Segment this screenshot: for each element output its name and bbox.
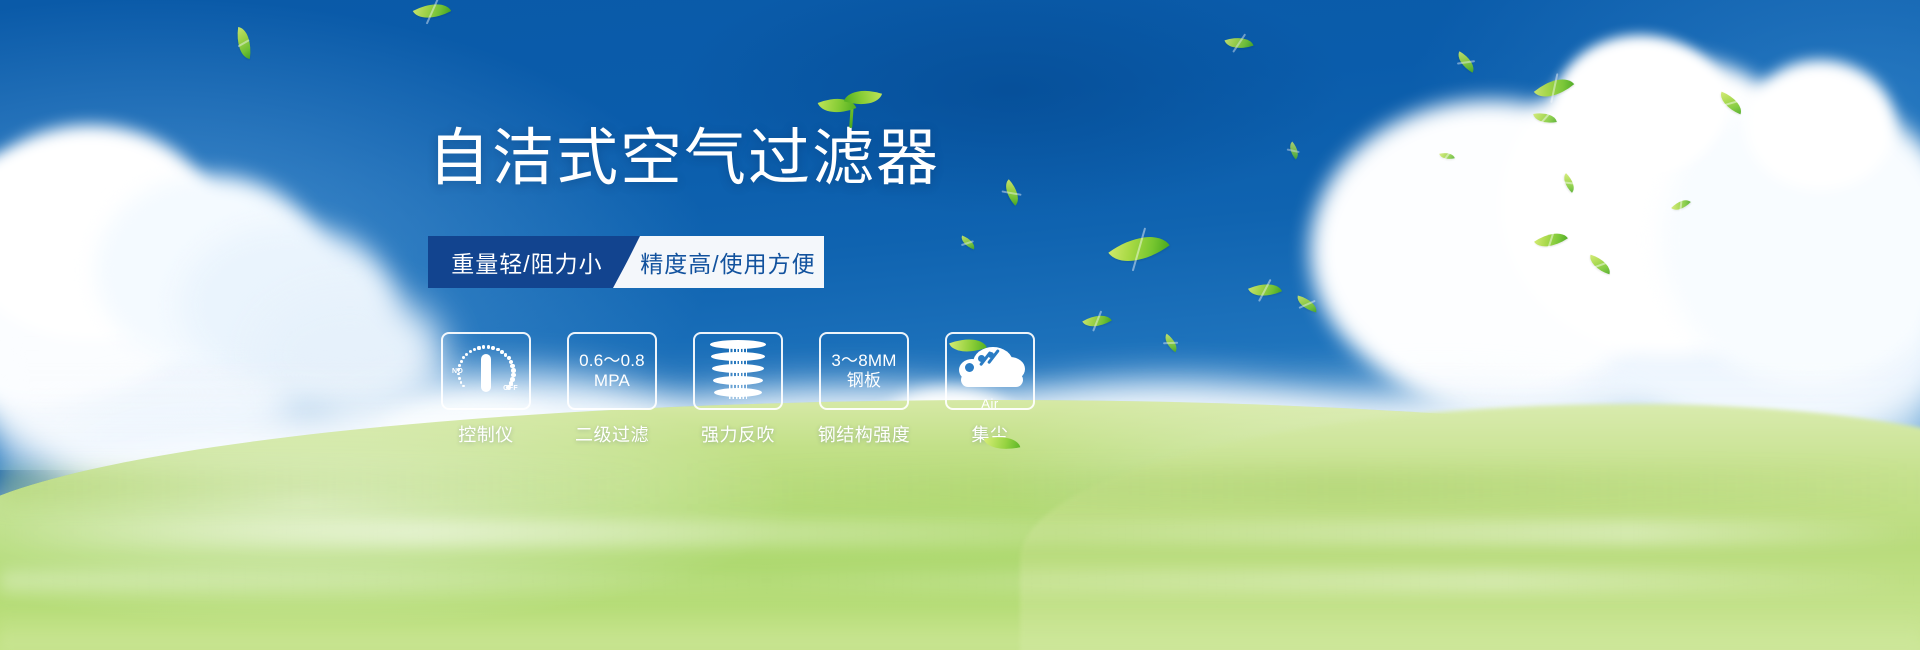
cartridge-ring (714, 388, 762, 397)
gauge-tick (460, 381, 462, 383)
feature-item-dust-collection[interactable]: Air 集尘 (942, 332, 1038, 447)
subtitle-tabs: 重量轻/阻力小 精度高/使用方便 (428, 236, 824, 288)
hero-banner: 自洁式空气过滤器 重量轻/阻力小 精度高/使用方便 NO OFF 控制仪 (0, 0, 1920, 650)
tab-label-2: 精度高/使用方便 (640, 245, 815, 279)
steel-value-line2: 钢板 (847, 371, 881, 391)
gauge-tick (469, 350, 472, 353)
feature-box-air: Air (945, 332, 1035, 410)
page-title: 自洁式空气过滤器 (428, 128, 988, 190)
gauge-tick (465, 353, 468, 356)
gauge-tick (506, 385, 511, 390)
cloud-right-top-a (1555, 35, 1725, 175)
filter-cartridge-icon (710, 340, 766, 402)
feature-box-pressure: 0.6～0.8 MPA (567, 332, 657, 410)
cloud-right-top-b (1745, 60, 1895, 190)
pressure-value-line1: 0.6～0.8 (579, 351, 645, 371)
gauge-tick (496, 348, 500, 352)
feature-box-controller: NO OFF (441, 332, 531, 410)
feature-list: NO OFF 控制仪 0.6～0.8 MPA 二级过滤 强力反吹 (438, 332, 1038, 447)
air-cloud-icon: Air (953, 343, 1027, 399)
feature-label-controller: 控制仪 (458, 421, 514, 447)
cartridge-ring (710, 340, 766, 349)
gauge-tick (473, 348, 476, 351)
gauge-tick (462, 356, 465, 359)
gauge-tick (458, 377, 460, 379)
steel-value-line1: 3～8MM (831, 351, 896, 371)
gauge-tick (482, 345, 485, 348)
tab-label-1: 重量轻/阻力小 (451, 245, 602, 279)
cartridge-ring (711, 352, 765, 361)
feature-box-steel: 3～8MM 钢板 (819, 332, 909, 410)
cloud-hole-1 (965, 363, 974, 372)
tab-precision-easyuse[interactable]: 精度高/使用方便 (614, 236, 824, 288)
cartridge-ring (713, 376, 763, 385)
gauge-tick (487, 345, 491, 349)
cloud-base (961, 373, 1023, 387)
gauge-needle (481, 354, 491, 392)
tab-lightweight-lowresistance[interactable]: 重量轻/阻力小 (428, 236, 640, 288)
title-block: 自洁式空气过滤器 (428, 128, 988, 190)
gauge-tick (462, 385, 464, 387)
gauge-tick (477, 346, 480, 349)
gauge-tick (460, 360, 463, 363)
feature-label-secondary-filtration: 二级过滤 (575, 421, 649, 447)
gauge-tick (457, 368, 460, 371)
air-label: Air (953, 396, 1027, 411)
feature-item-controller[interactable]: NO OFF 控制仪 (438, 332, 534, 447)
pressure-value-line2: MPA (594, 371, 630, 391)
feature-item-backblow[interactable]: 强力反吹 (690, 332, 786, 447)
feature-label-dust-collection: 集尘 (972, 421, 1009, 447)
control-gauge-icon: NO OFF (453, 341, 519, 401)
leaf-sprout-icon (820, 84, 890, 134)
feature-label-backblow: 强力反吹 (701, 421, 775, 447)
feature-box-cartridge (693, 332, 783, 410)
gauge-tick (458, 364, 461, 367)
cartridge-ring (712, 364, 764, 373)
feature-label-steel-strength: 钢结构强度 (818, 421, 911, 447)
gauge-tick (491, 346, 495, 350)
feature-item-secondary-filtration[interactable]: 0.6～0.8 MPA 二级过滤 (564, 332, 660, 447)
feature-item-steel-strength[interactable]: 3～8MM 钢板 钢结构强度 (816, 332, 912, 447)
